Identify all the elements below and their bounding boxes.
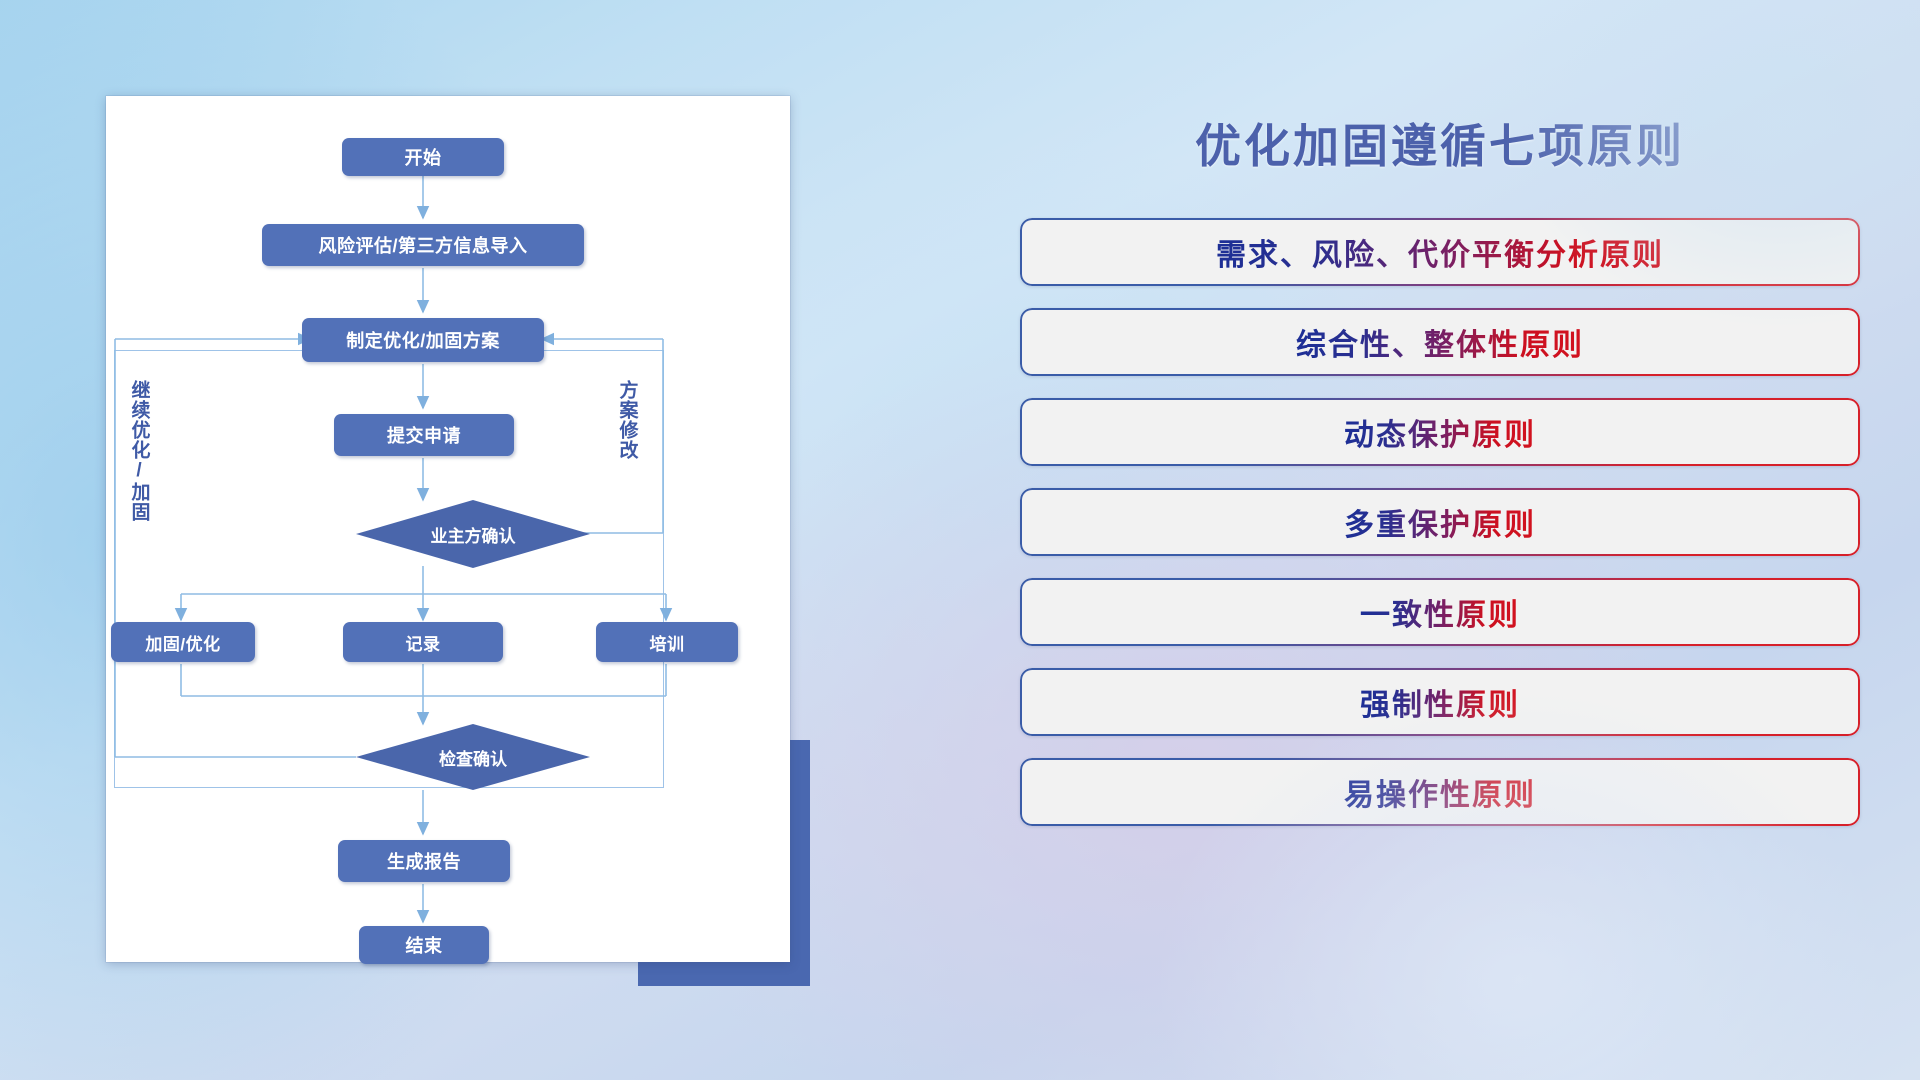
panel-title: 优化加固遵循七项原则 — [1020, 110, 1860, 176]
flow-node-reinforce-optimize[interactable]: 加固/优化 — [111, 622, 255, 662]
principle-label: 多重保护原则 — [1344, 500, 1536, 544]
principle-item[interactable]: 综合性、整体性原则 — [1020, 308, 1860, 376]
flow-node-record[interactable]: 记录 — [343, 622, 503, 662]
flow-node-label: 检查确认 — [439, 745, 507, 770]
flow-node-end[interactable]: 结束 — [359, 926, 489, 964]
flow-node-submit-application[interactable]: 提交申请 — [334, 414, 514, 456]
principle-item[interactable]: 多重保护原则 — [1020, 488, 1860, 556]
principle-label: 综合性、整体性原则 — [1296, 320, 1584, 364]
flow-node-make-plan[interactable]: 制定优化/加固方案 — [302, 318, 544, 362]
principles-list: 需求、风险、代价平衡分析原则 综合性、整体性原则 动态保护原则 多重保护原则 一… — [1020, 218, 1860, 826]
principle-item[interactable]: 一致性原则 — [1020, 578, 1860, 646]
edge-label-plan-revision: 方案修改 — [616, 380, 637, 460]
principle-label: 易操作性原则 — [1344, 770, 1536, 814]
flow-node-training[interactable]: 培训 — [596, 622, 738, 662]
flow-node-label: 加固/优化 — [145, 630, 220, 655]
flow-node-label: 开始 — [405, 144, 442, 170]
flow-node-label: 结束 — [406, 932, 443, 958]
flow-node-generate-report[interactable]: 生成报告 — [338, 840, 510, 882]
flow-node-label: 业主方确认 — [431, 522, 516, 547]
edge-label-continue-optimize: 继续优化/加固 — [128, 380, 149, 522]
slide-canvas: 开始 风险评估/第三方信息导入 制定优化/加固方案 提交申请 业主方确认 加固/… — [0, 0, 1920, 1080]
principles-panel: 优化加固遵循七项原则 需求、风险、代价平衡分析原则 综合性、整体性原则 动态保护… — [1020, 96, 1860, 996]
principle-label: 一致性原则 — [1360, 590, 1520, 634]
flowchart-card: 开始 风险评估/第三方信息导入 制定优化/加固方案 提交申请 业主方确认 加固/… — [106, 96, 790, 962]
flow-node-label: 生成报告 — [387, 848, 461, 874]
principle-label: 强制性原则 — [1360, 680, 1520, 724]
principle-item[interactable]: 动态保护原则 — [1020, 398, 1860, 466]
principle-item[interactable]: 需求、风险、代价平衡分析原则 — [1020, 218, 1860, 286]
principle-item[interactable]: 易操作性原则 — [1020, 758, 1860, 826]
flow-node-label: 提交申请 — [387, 422, 461, 448]
flow-node-risk-assessment[interactable]: 风险评估/第三方信息导入 — [262, 224, 584, 266]
principle-label: 需求、风险、代价平衡分析原则 — [1216, 230, 1664, 274]
flow-node-label: 制定优化/加固方案 — [346, 327, 500, 353]
flow-node-label: 培训 — [650, 630, 685, 655]
flow-node-label: 记录 — [406, 630, 441, 655]
principle-item[interactable]: 强制性原则 — [1020, 668, 1860, 736]
flow-node-start[interactable]: 开始 — [342, 138, 504, 176]
flow-node-label: 风险评估/第三方信息导入 — [319, 232, 528, 258]
principle-label: 动态保护原则 — [1344, 410, 1536, 454]
